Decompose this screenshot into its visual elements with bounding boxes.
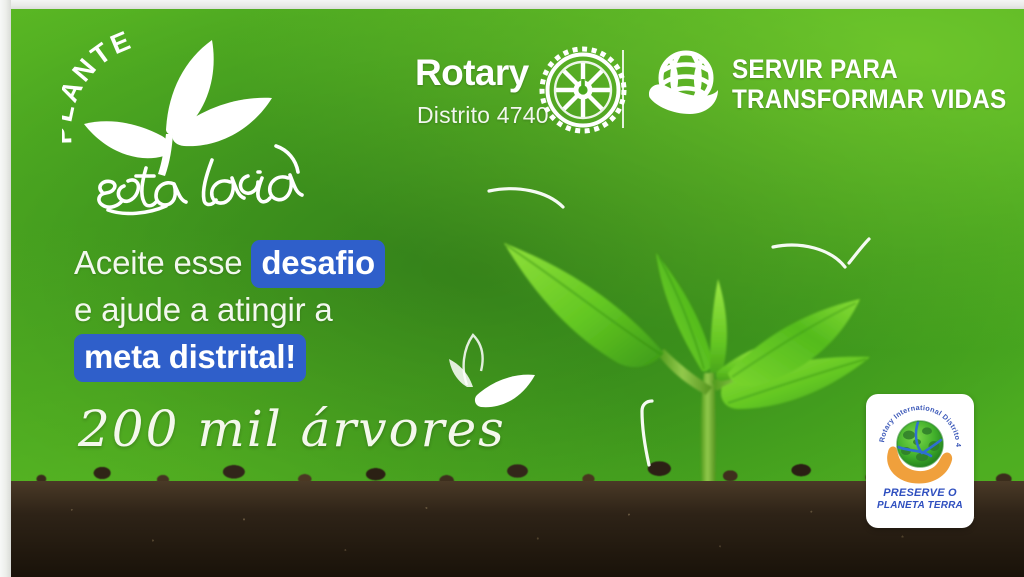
rotary-lockup: Rotary Distrito 4740 — [415, 48, 630, 140]
lockup-divider — [622, 50, 624, 128]
rotary-theme-lockup: SERVIR PARA TRANSFORMAR VIDAS — [646, 46, 986, 138]
headline-block: Aceite esse desafio e ajude a atingir a … — [74, 240, 474, 382]
theme-line-2: TRANSFORMAR VIDAS — [732, 84, 1006, 114]
badge-caption-line-2: PLANETA TERRA — [866, 500, 974, 512]
globe-in-hand-icon — [646, 48, 722, 124]
rotary-wordmark: Rotary — [415, 52, 529, 94]
rotary-gear-wheel-icon — [539, 46, 627, 134]
plante-esta-ideia-logo: PLANTE — [62, 26, 312, 216]
badge-caption-line-1: PRESERVE O — [866, 487, 974, 500]
headline-emphasis-desafio: desafio — [251, 240, 384, 288]
left-edge-strip — [0, 0, 11, 577]
badge-caption: PRESERVE O PLANETA TERRA — [866, 487, 974, 512]
earth-in-hand-icon: Rotary International Distrito 4740 — [872, 400, 968, 488]
headline-line-2: e ajude a atingir a — [74, 288, 474, 332]
theme-slogan: SERVIR PARA TRANSFORMAR VIDAS — [732, 54, 1024, 114]
top-edge-strip — [0, 0, 1024, 9]
esta-ideia-script — [99, 146, 302, 213]
preserve-planeta-terra-badge: Rotary International Distrito 4740 — [866, 394, 974, 528]
headline-line-3: meta distrital! — [74, 334, 474, 382]
rotary-district-label: Distrito 4740 — [417, 102, 549, 129]
headline-line-1: Aceite esse desafio — [74, 240, 474, 288]
campaign-poster: PLANTE — [0, 0, 1024, 577]
goal-figure: 200 mil árvores — [78, 400, 506, 458]
headline-emphasis-meta-distrital: meta distrital! — [74, 334, 306, 382]
theme-line-1: SERVIR PARA — [732, 54, 1006, 84]
headline-line-1-plain: Aceite esse — [74, 244, 251, 281]
